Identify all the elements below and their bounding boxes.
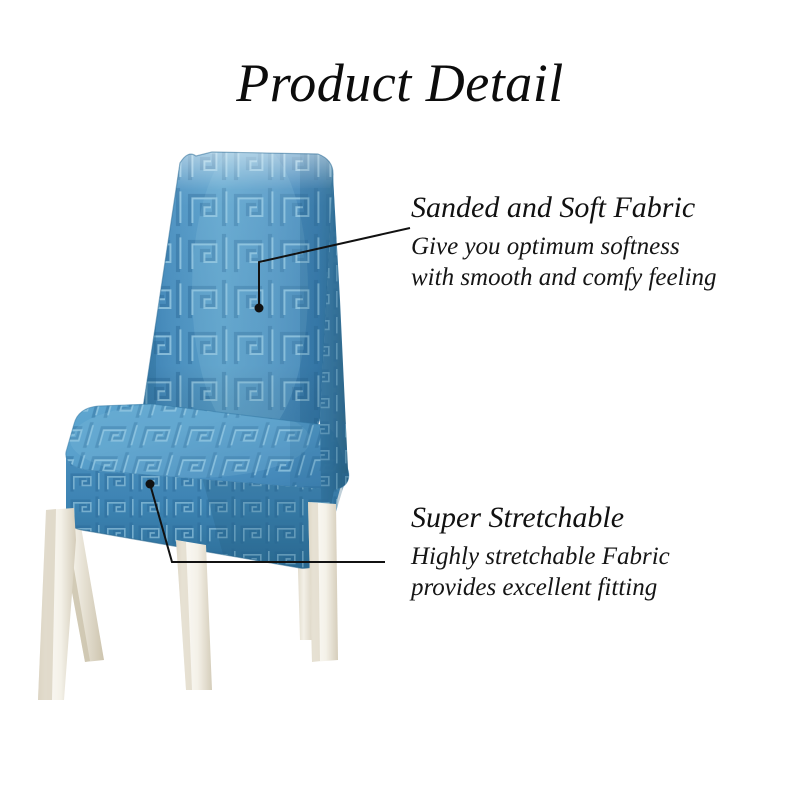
callout-body-line: Highly stretchable Fabric <box>411 541 670 572</box>
callout-body-line: provides excellent fitting <box>411 572 670 603</box>
chair-illustration <box>0 0 800 800</box>
callout-heading-stretch: Super Stretchable <box>411 500 670 536</box>
callout-heading-fabric: Sanded and Soft Fabric <box>411 190 717 226</box>
chair-backrest <box>130 140 350 440</box>
page-title: Product Detail <box>0 52 800 114</box>
callout-sanded-and-soft-fabric: Sanded and Soft Fabric Give you optimum … <box>411 190 717 293</box>
callout-body-line: Give you optimum softness <box>411 231 717 262</box>
product-detail-image: Product Detail Sanded and Soft Fabric Gi… <box>0 0 800 800</box>
callout-body-line: with smooth and comfy feeling <box>411 262 717 293</box>
callout-body-stretch: Highly stretchable Fabric provides excel… <box>411 541 670 603</box>
callout-body-fabric: Give you optimum softness with smooth an… <box>411 231 717 293</box>
callout-super-stretchable: Super Stretchable Highly stretchable Fab… <box>411 500 670 603</box>
